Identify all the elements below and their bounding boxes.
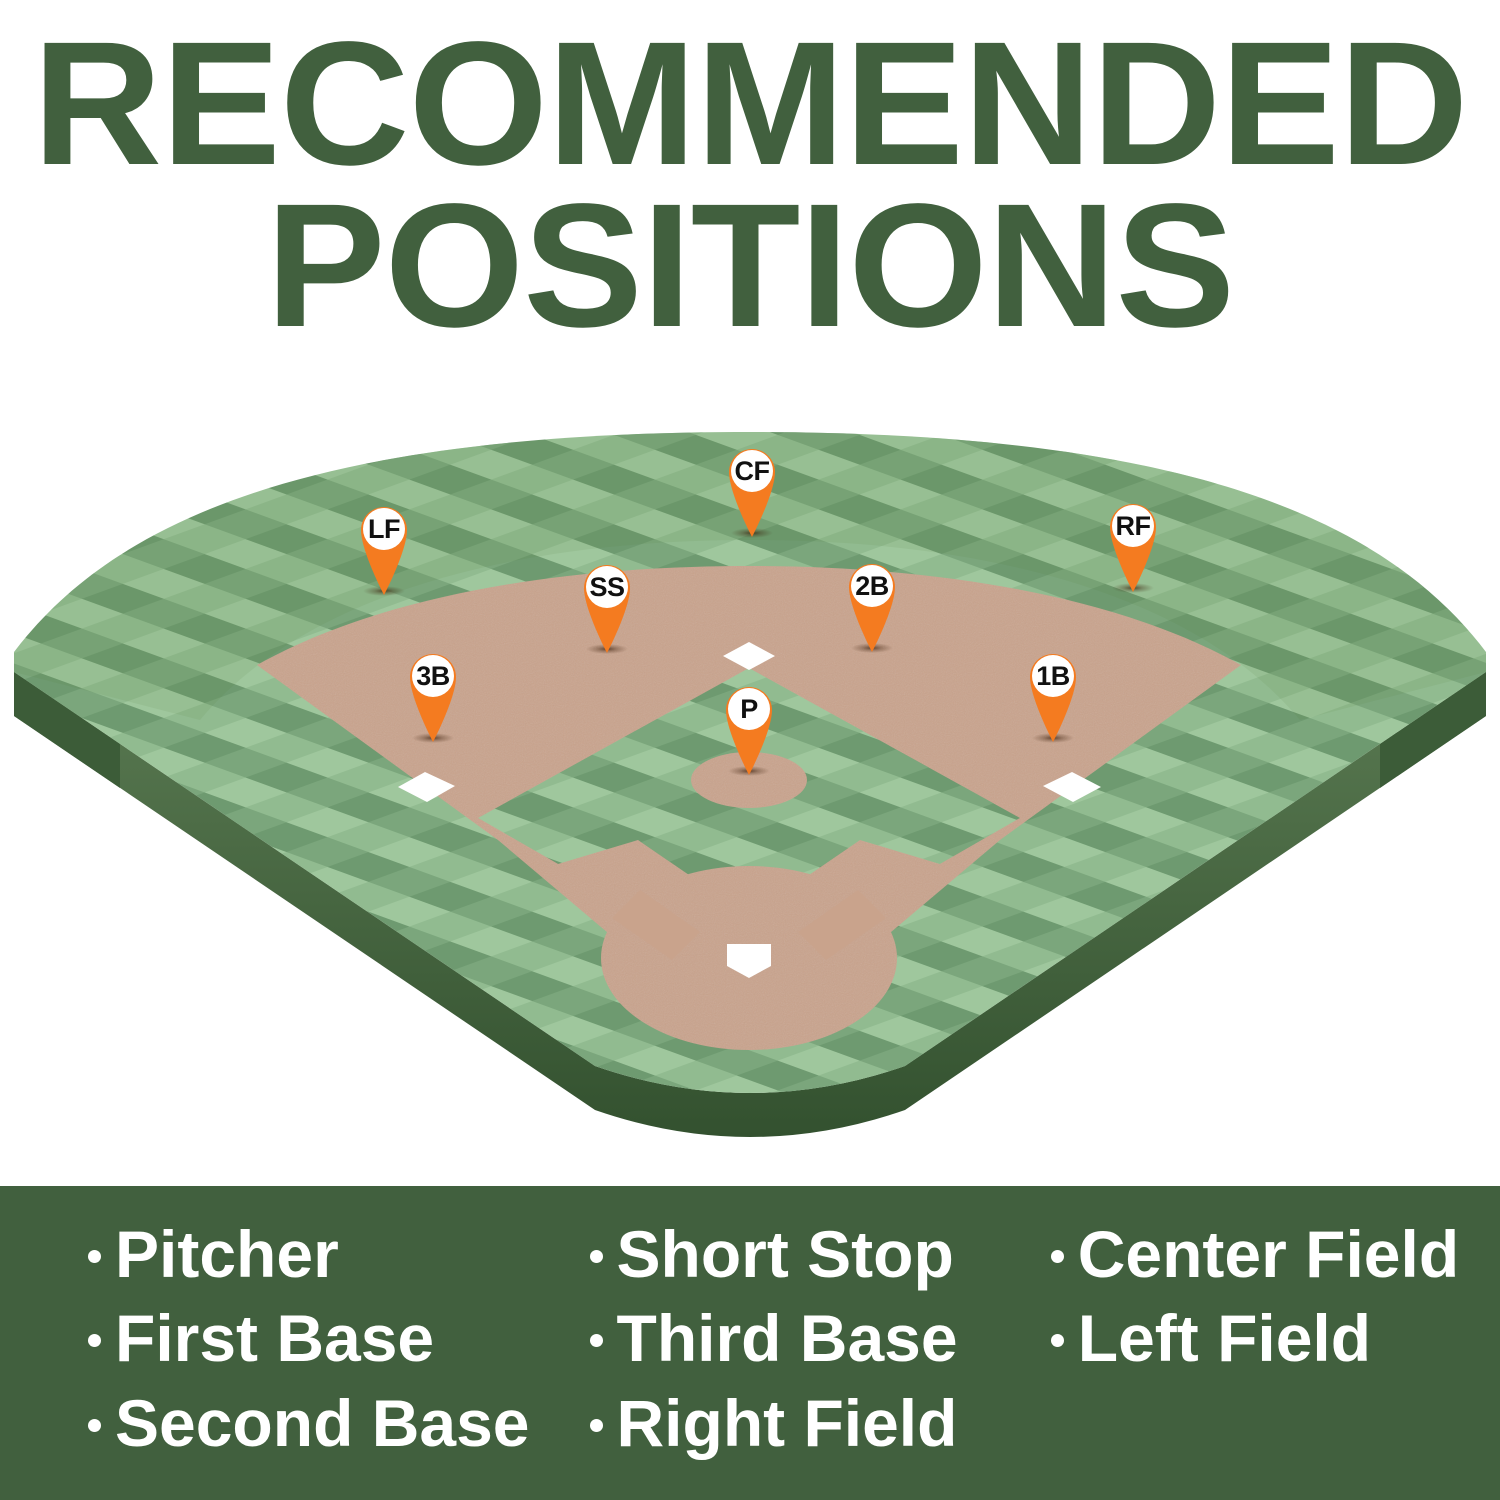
bullet-icon: [88, 1419, 101, 1432]
marker-ss[interactable]: SS: [578, 557, 636, 653]
legend-label: Right Field: [617, 1381, 958, 1465]
legend-column-3: Center Field Left Field: [999, 1212, 1460, 1480]
marker-2b[interactable]: 2B: [843, 556, 901, 652]
bullet-icon: [590, 1250, 603, 1263]
bullet-icon: [1051, 1250, 1064, 1263]
bullet-icon: [88, 1334, 101, 1347]
legend-item: Left Field: [1051, 1296, 1460, 1380]
marker-label-3b: 3B: [404, 648, 462, 704]
positions-legend: Pitcher First Base Second Base Short Sto…: [0, 1186, 1500, 1500]
legend-label: Center Field: [1078, 1212, 1459, 1296]
marker-label-rf: RF: [1104, 498, 1162, 554]
legend-item: Right Field: [590, 1381, 999, 1465]
marker-label-ss: SS: [578, 559, 636, 615]
legend-column-2: Short Stop Third Base Right Field: [530, 1212, 999, 1480]
marker-label-2b: 2B: [843, 558, 901, 614]
legend-item: Second Base: [88, 1381, 530, 1465]
poster-root: RECOMMENDED POSITIONS: [0, 0, 1500, 1500]
marker-label-p: P: [720, 681, 778, 737]
marker-1b[interactable]: 1B: [1024, 646, 1082, 742]
marker-p[interactable]: P: [720, 679, 778, 775]
bullet-icon: [88, 1250, 101, 1263]
legend-column-1: Pitcher First Base Second Base: [40, 1212, 530, 1480]
marker-cf[interactable]: CF: [723, 441, 781, 537]
page-title: RECOMMENDED POSITIONS: [0, 24, 1500, 348]
legend-item: Third Base: [590, 1296, 999, 1380]
legend-label: Pitcher: [115, 1212, 339, 1296]
marker-3b[interactable]: 3B: [404, 646, 462, 742]
bullet-icon: [590, 1419, 603, 1432]
legend-item: First Base: [88, 1296, 530, 1380]
marker-rf[interactable]: RF: [1104, 496, 1162, 592]
title-line-2: POSITIONS: [0, 186, 1500, 348]
title-line-1: RECOMMENDED: [0, 24, 1500, 186]
legend-label: Short Stop: [617, 1212, 954, 1296]
bullet-icon: [1051, 1334, 1064, 1347]
legend-label: Third Base: [617, 1296, 958, 1380]
baseball-field-diagram: LF CF RF SS: [0, 420, 1500, 1150]
legend-item: Short Stop: [590, 1212, 999, 1296]
legend-item: Pitcher: [88, 1212, 530, 1296]
marker-label-cf: CF: [723, 443, 781, 499]
legend-item: Center Field: [1051, 1212, 1460, 1296]
legend-label: Left Field: [1078, 1296, 1371, 1380]
marker-lf[interactable]: LF: [355, 499, 413, 595]
marker-label-1b: 1B: [1024, 648, 1082, 704]
legend-label: Second Base: [115, 1381, 530, 1465]
bullet-icon: [590, 1334, 603, 1347]
marker-label-lf: LF: [355, 501, 413, 557]
legend-label: First Base: [115, 1296, 434, 1380]
